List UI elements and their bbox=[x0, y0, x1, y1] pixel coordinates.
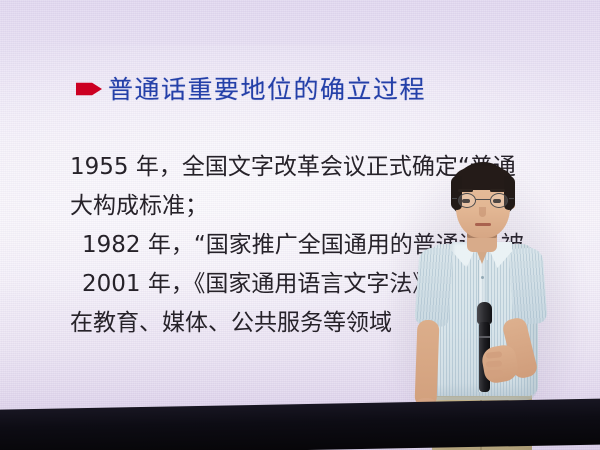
presenter-eyebrow-right bbox=[490, 189, 505, 192]
microphone-head bbox=[477, 302, 492, 324]
presenter-mouth bbox=[475, 223, 491, 226]
sleeve-stripe-pattern-left bbox=[414, 247, 453, 327]
presenter-finger bbox=[486, 360, 502, 367]
presenter-eyebrow-left bbox=[458, 189, 473, 192]
presenter-finger bbox=[487, 370, 503, 377]
glasses-bridge bbox=[476, 199, 490, 200]
red-arrow-bullet-icon bbox=[76, 82, 102, 97]
slide-title: 普通话重要地位的确立过程 bbox=[76, 70, 426, 106]
glasses-temple-right bbox=[509, 198, 514, 199]
presenter-nose bbox=[479, 207, 486, 217]
sleeve-stripe-pattern-right bbox=[508, 247, 547, 325]
presentation-photo-scene: 普通话重要地位的确立过程 1955 年，全国文字改革会议正式确定“普通 大构成标… bbox=[0, 0, 600, 450]
slide-title-text: 普通话重要地位的确立过程 bbox=[108, 70, 426, 106]
glasses-temple-left bbox=[452, 198, 457, 199]
presenter-forearm-left bbox=[415, 320, 440, 407]
microphone-ring bbox=[479, 336, 490, 338]
glasses-lens-left bbox=[458, 193, 476, 208]
glasses-lens-right bbox=[490, 193, 508, 208]
shirt-button bbox=[481, 276, 484, 279]
glasses-icon bbox=[457, 193, 509, 208]
